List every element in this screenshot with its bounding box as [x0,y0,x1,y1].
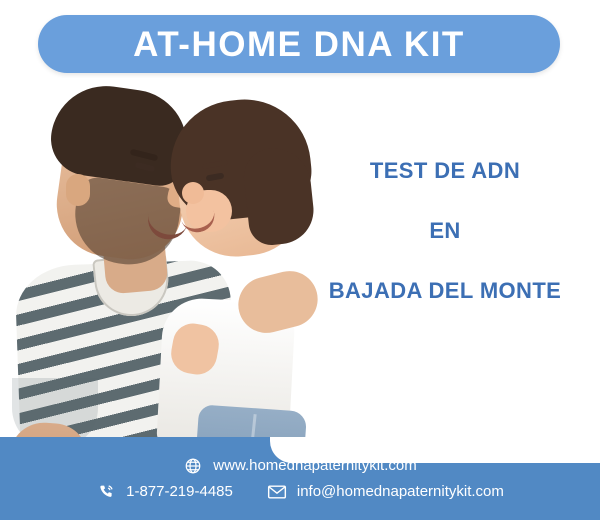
poster-canvas: AT-HOME DNA KIT TEST DE ADN [0,0,600,520]
headline-block: TEST DE ADN EN BAJADA DEL MONTE [300,160,590,302]
footer-phone[interactable]: 1-877-219-4485 [96,482,233,502]
website-text: www.homednapaternitykit.com [213,458,416,473]
footer-email[interactable]: info@homednapaternitykit.com [267,482,504,502]
headline-line-3: BAJADA DEL MONTE [300,280,590,302]
family-photo [0,78,330,458]
footer-content: www.homednapaternitykit.com 1-877-219-44… [0,437,600,520]
footer-website[interactable]: www.homednapaternitykit.com [183,456,416,476]
header-banner: AT-HOME DNA KIT [38,15,560,73]
man-ear [66,174,90,206]
headline-line-1: TEST DE ADN [300,160,590,182]
phone-icon [96,482,116,502]
footer-row-website: www.homednapaternitykit.com [183,456,416,476]
phone-text: 1-877-219-4485 [126,484,233,499]
headline-line-2: EN [300,220,590,242]
footer-row-contact: 1-877-219-4485 info@homednapaternitykit.… [96,482,504,502]
globe-icon [183,456,203,476]
page-title: AT-HOME DNA KIT [133,27,465,62]
email-text: info@homednapaternitykit.com [297,484,504,499]
envelope-icon [267,482,287,502]
child-nose [182,182,204,204]
